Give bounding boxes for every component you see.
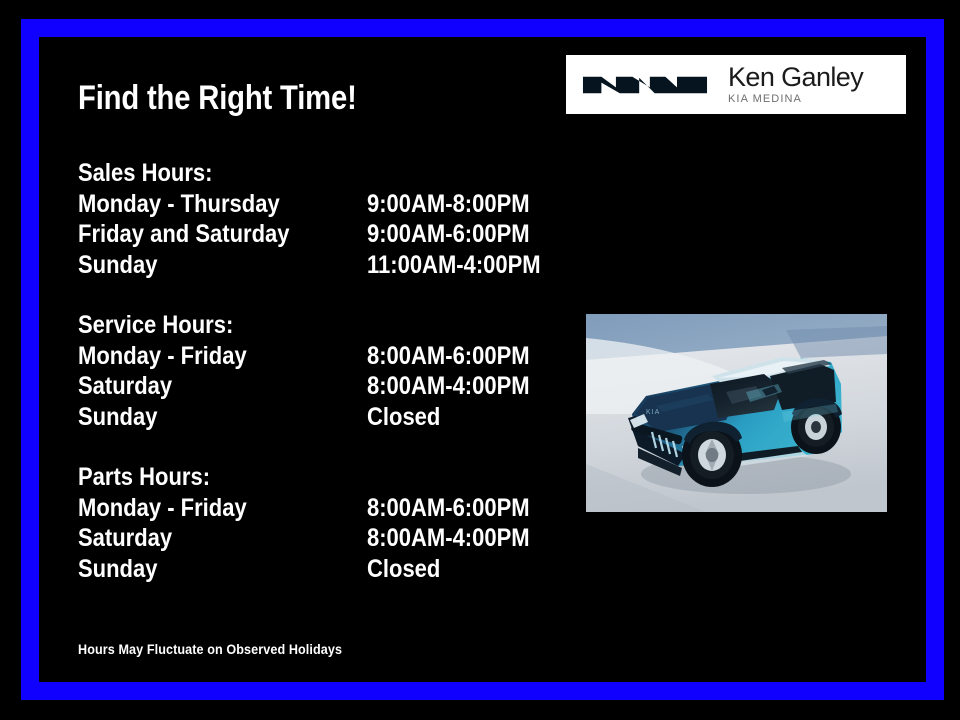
page-title: Find the Right Time! [78,79,357,118]
hours-block-sales: Sales Hours: Monday - Thursday 9:00AM-8:… [78,158,548,280]
hours-day: Monday - Friday [78,341,247,372]
hours-row: Monday - Friday 8:00AM-6:00PM [78,493,548,524]
slide-content: Find the Right Time! Ken Ganley KIA MEDI… [0,0,960,720]
hours-time: 8:00AM-6:00PM [367,341,530,372]
kia-logo-icon [582,68,708,102]
hours-row: Saturday 8:00AM-4:00PM [78,523,548,554]
hours-day: Sunday [78,250,157,281]
hours-time: 9:00AM-8:00PM [367,189,530,220]
hours-time: 8:00AM-6:00PM [367,493,530,524]
hours-day: Monday - Friday [78,493,247,524]
hours-day: Saturday [78,371,172,402]
svg-text:KIA: KIA [646,409,660,416]
hours-day: Friday and Saturday [78,219,290,250]
hours-day: Saturday [78,523,172,554]
hours-heading: Sales Hours: [78,158,492,189]
hours-heading: Parts Hours: [78,462,492,493]
slide-root: Find the Right Time! Ken Ganley KIA MEDI… [0,0,960,720]
hours-day: Sunday [78,402,157,433]
hours-heading: Service Hours: [78,310,492,341]
hours-time: 11:00AM-4:00PM [367,250,541,281]
logo-dealer-subtitle: KIA MEDINA [728,94,863,105]
hours-time: 8:00AM-4:00PM [367,371,530,402]
logo-dealer-name: Ken Ganley [728,64,863,91]
hours-row: Sunday Closed [78,554,548,585]
hours-day: Sunday [78,554,157,585]
hours-row: Friday and Saturday 9:00AM-6:00PM [78,219,548,250]
hours-time: 8:00AM-4:00PM [367,523,530,554]
holiday-disclaimer: Hours May Fluctuate on Observed Holidays [78,641,342,657]
hours-block-parts: Parts Hours: Monday - Friday 8:00AM-6:00… [78,462,548,584]
kia-ev9-suv-photo: KIA [586,314,887,512]
hours-row: Monday - Thursday 9:00AM-8:00PM [78,189,548,220]
hours-day: Monday - Thursday [78,189,280,220]
hours-row: Sunday 11:00AM-4:00PM [78,250,548,281]
dealer-logo: Ken Ganley KIA MEDINA [566,55,906,114]
logo-text-block: Ken Ganley KIA MEDINA [728,64,863,105]
hours-row: Monday - Friday 8:00AM-6:00PM [78,341,548,372]
hours-block-service: Service Hours: Monday - Friday 8:00AM-6:… [78,310,548,432]
hours-time: Closed [367,402,440,433]
hours-row: Saturday 8:00AM-4:00PM [78,371,548,402]
hours-row: Sunday Closed [78,402,548,433]
hours-time: Closed [367,554,440,585]
hours-time: 9:00AM-6:00PM [367,219,530,250]
